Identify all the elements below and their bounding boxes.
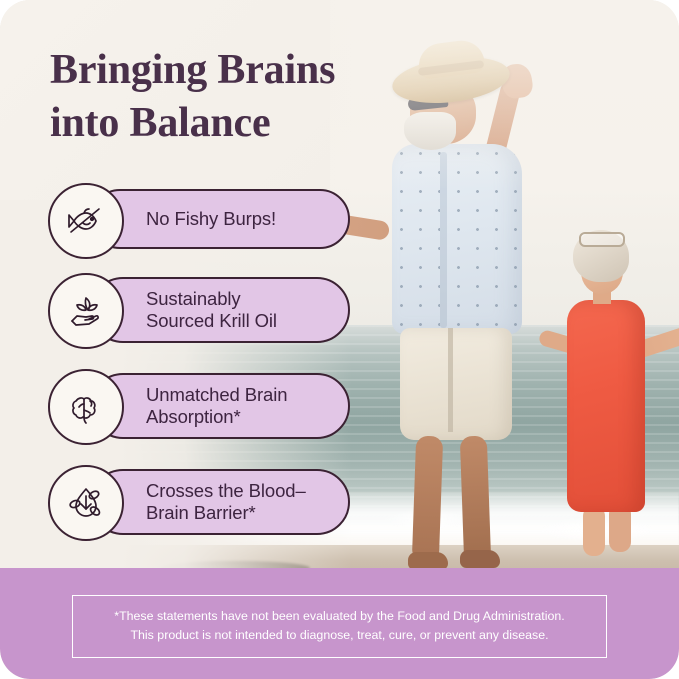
benefit-label: Crosses the Blood– Brain Barrier* xyxy=(146,480,306,524)
page-title: Bringing Brains into Balance xyxy=(50,44,450,150)
headline-line-1: Bringing Brains xyxy=(50,44,450,97)
disclaimer-line-1: *These statements have not been evaluate… xyxy=(83,607,596,626)
woman-sunglasses-on-head xyxy=(579,232,625,247)
disclaimer-line-2: This product is not intended to diagnose… xyxy=(83,626,596,645)
woman-coral-dress xyxy=(567,300,645,512)
fish-no-burps-icon xyxy=(48,183,124,259)
blood-brain-barrier-icon xyxy=(48,465,124,541)
woman-left-leg xyxy=(583,506,605,556)
hand-leaf-sustainable-icon xyxy=(48,273,124,349)
man-right-foot xyxy=(460,550,500,568)
benefit-pill: No Fishy Burps! xyxy=(90,189,350,249)
man-shorts xyxy=(400,328,512,440)
benefit-label: Sustainably Sourced Krill Oil xyxy=(146,288,277,332)
brain-icon xyxy=(48,369,124,445)
benefit-label: Unmatched Brain Absorption* xyxy=(146,384,287,428)
man-right-leg xyxy=(460,436,491,565)
benefit-pill: Sustainably Sourced Krill Oil xyxy=(90,277,350,343)
footer-band: *These statements have not been evaluate… xyxy=(0,568,679,679)
headline-line-2: into Balance xyxy=(50,97,450,150)
man-left-leg xyxy=(412,436,443,563)
benefit-pill: Unmatched Brain Absorption* xyxy=(90,373,350,439)
benefit-label: No Fishy Burps! xyxy=(146,208,276,230)
promo-card: Bringing Brains into Balance No Fishy Bu… xyxy=(0,0,679,679)
woman-figure xyxy=(545,230,679,560)
disclaimer-box: *These statements have not been evaluate… xyxy=(72,595,607,658)
benefit-pill: Crosses the Blood– Brain Barrier* xyxy=(90,469,350,535)
